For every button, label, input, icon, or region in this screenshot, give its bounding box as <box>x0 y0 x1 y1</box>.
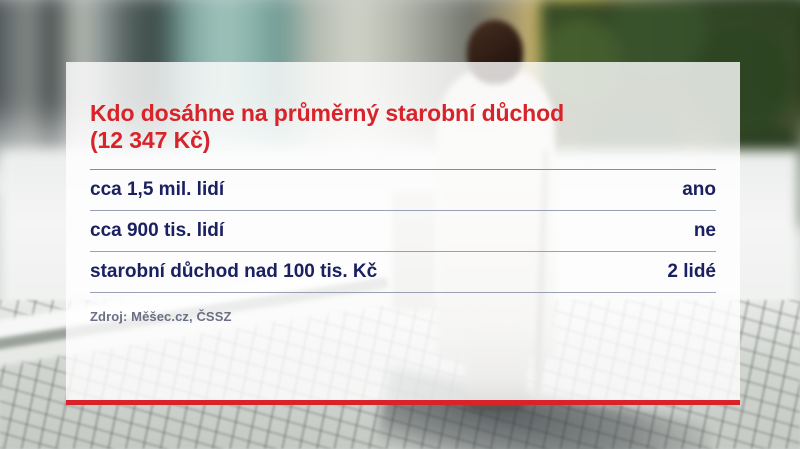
table-row: starobní důchod nad 100 tis. Kč 2 lidé <box>90 252 716 293</box>
source-attribution: Zdroj: Měšec.cz, ČSSZ <box>90 309 716 324</box>
row-label: cca 900 tis. lidí <box>90 220 224 242</box>
card-title-line-2: (12 347 Kč) <box>90 127 716 154</box>
table-row: cca 900 tis. lidí ne <box>90 211 716 252</box>
row-label: cca 1,5 mil. lidí <box>90 179 224 201</box>
data-table: cca 1,5 mil. lidí ano cca 900 tis. lidí … <box>90 170 716 293</box>
row-value: 2 lidé <box>667 261 716 283</box>
card-bottom-accent-rule <box>66 400 740 405</box>
card-title-line-1: Kdo dosáhne na průměrný starobní důchod <box>90 100 716 127</box>
info-card: Kdo dosáhne na průměrný starobní důchod … <box>66 62 740 403</box>
row-label: starobní důchod nad 100 tis. Kč <box>90 261 377 283</box>
table-row: cca 1,5 mil. lidí ano <box>90 170 716 211</box>
row-value: ano <box>682 179 716 201</box>
row-value: ne <box>694 220 716 242</box>
card-title: Kdo dosáhne na průměrný starobní důchod … <box>90 100 716 154</box>
